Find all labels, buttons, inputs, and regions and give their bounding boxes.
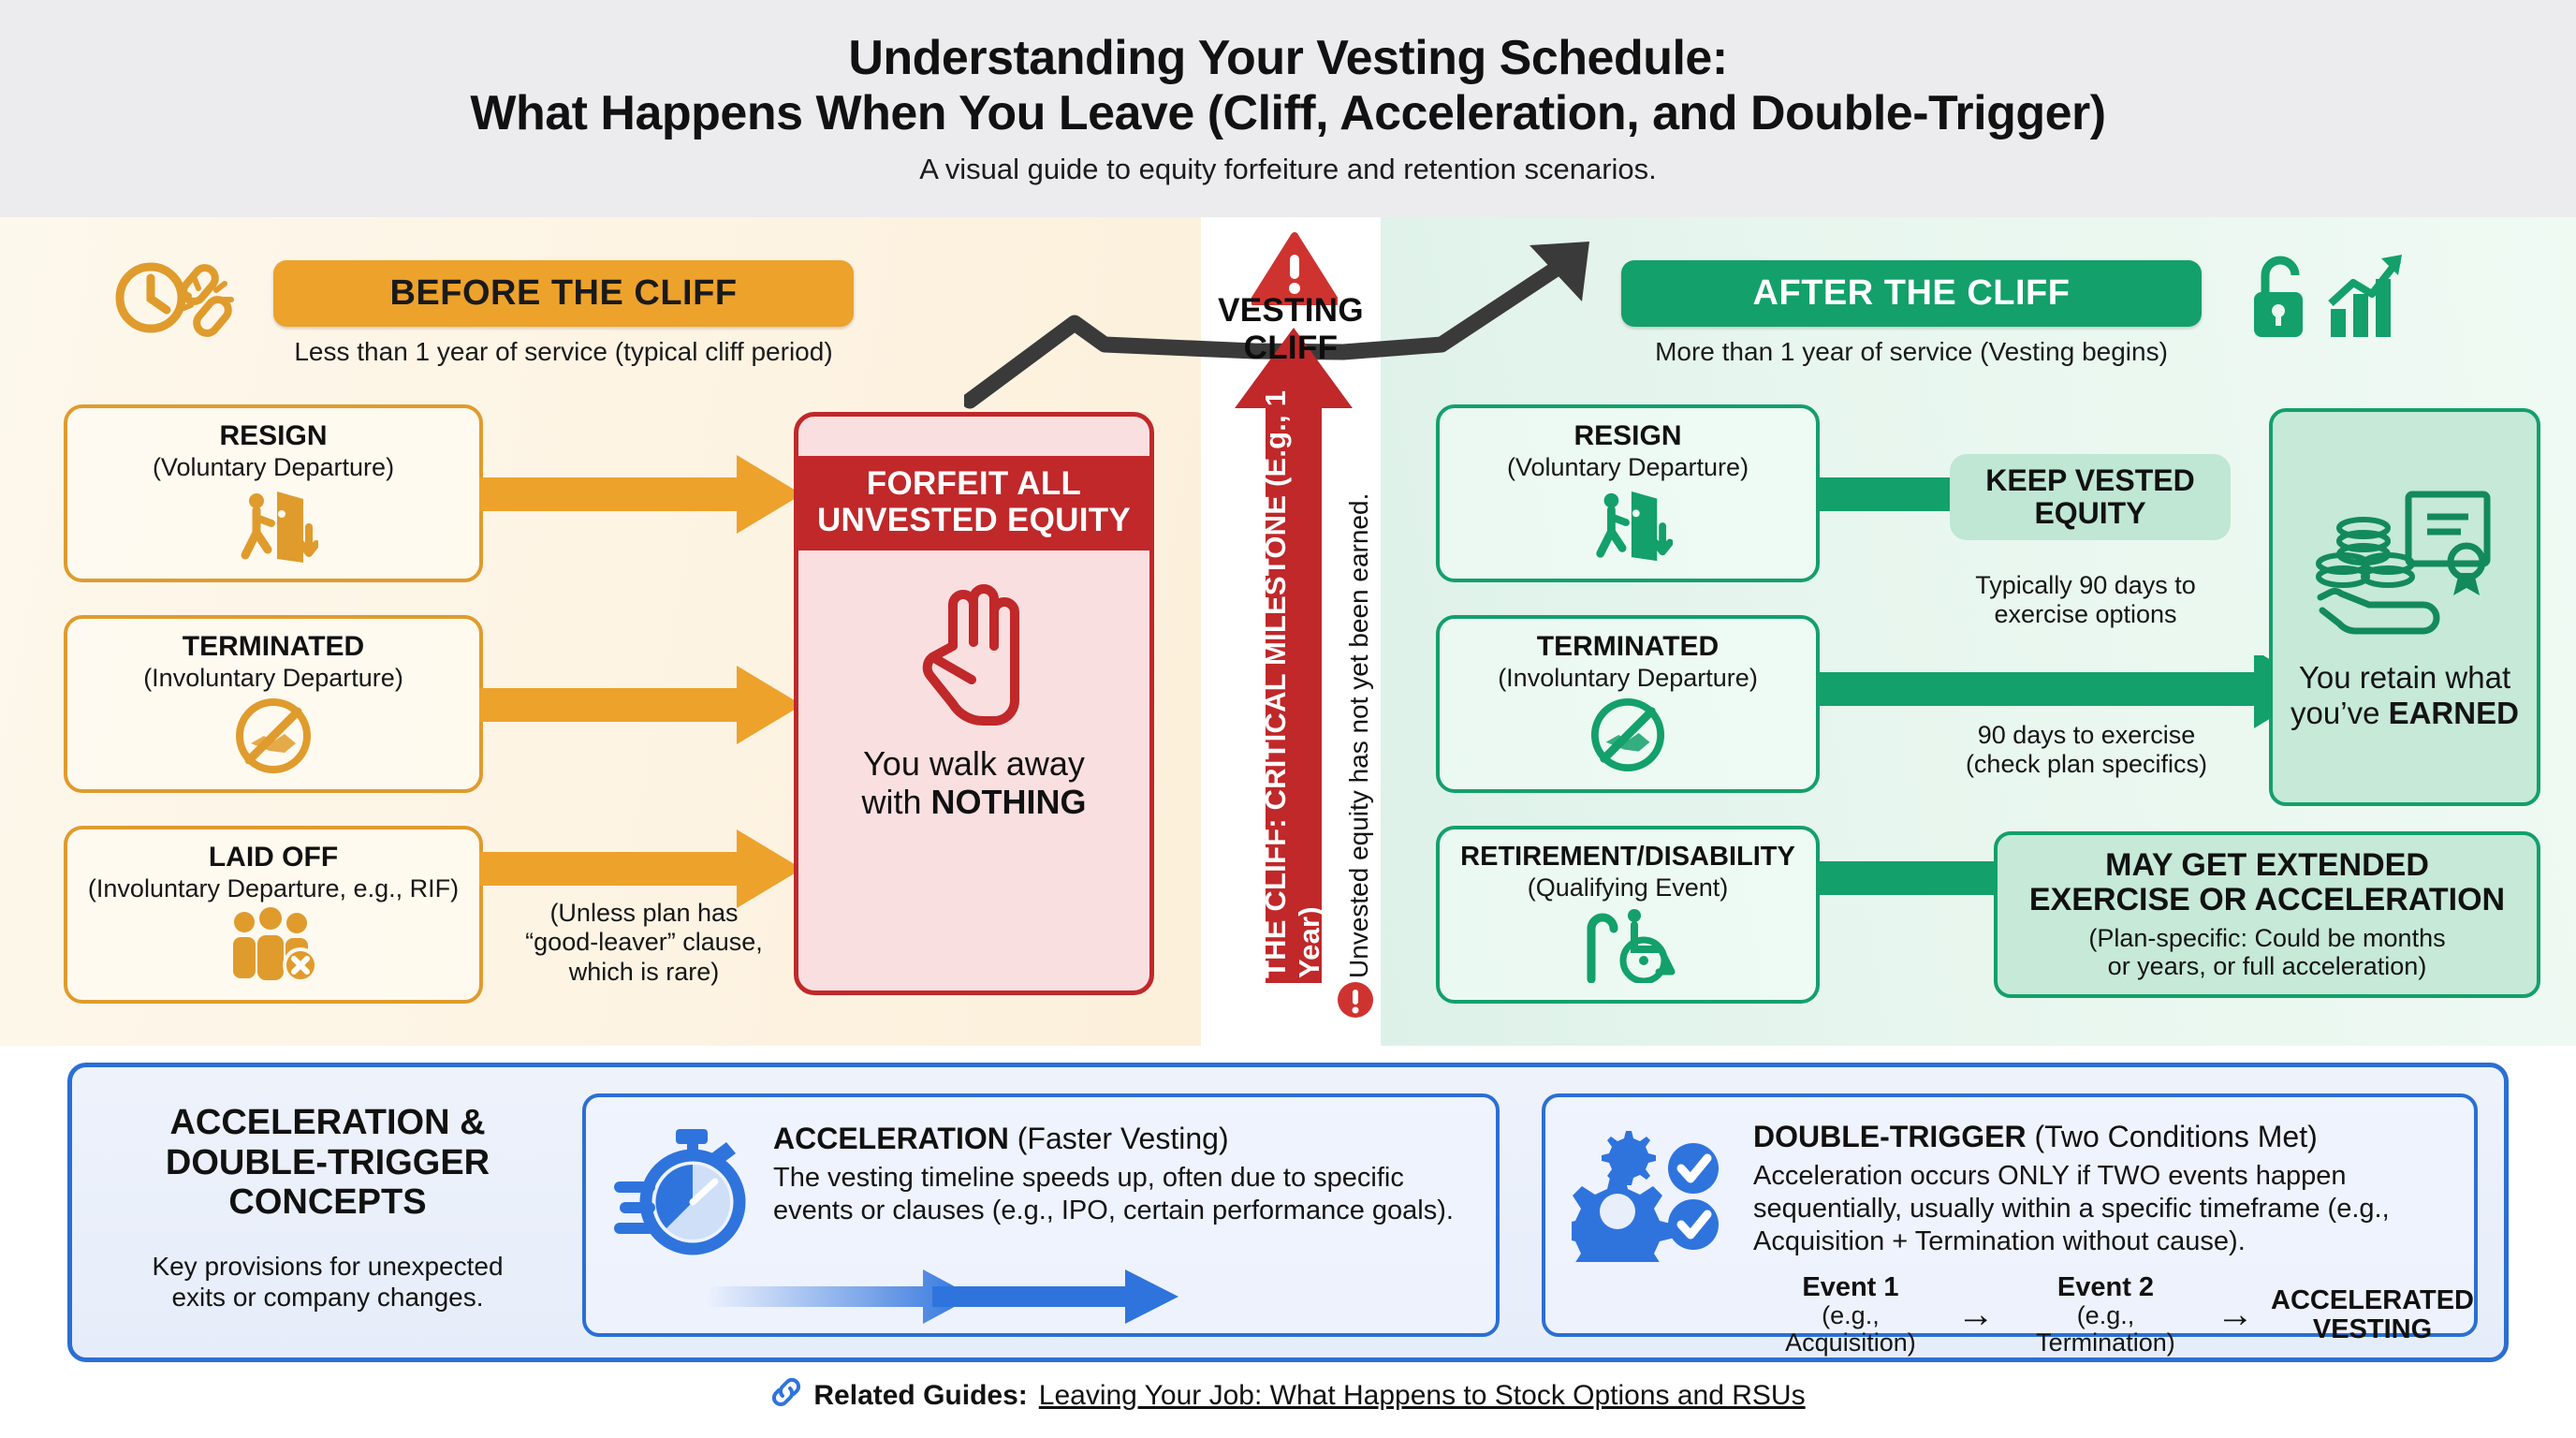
note-line1: 90 days to exercise bbox=[1910, 721, 2263, 750]
concepts-caption-line2: exits or company changes. bbox=[171, 1283, 483, 1312]
person-exit-door-icon bbox=[1583, 486, 1673, 569]
page-title-line2: What Happens When You Leave (Cliff, Acce… bbox=[470, 86, 2105, 141]
card-subtitle: (Involuntary Departure) bbox=[143, 664, 403, 692]
card-title: RESIGN bbox=[219, 421, 327, 451]
concepts-heading-line1: ACCELERATION & bbox=[169, 1103, 485, 1142]
forfeit-outcome-box: FORFEIT ALL UNVESTED EQUITY You walk awa… bbox=[794, 412, 1154, 995]
card-title: TERMINATED bbox=[1537, 632, 1719, 662]
forfeit-message: You walk away with NOTHING bbox=[798, 744, 1149, 821]
card-title: LAID OFF bbox=[209, 843, 338, 873]
note-90-days-to-exercise: 90 days to exercise (check plan specific… bbox=[1910, 721, 2263, 780]
before-cliff-subtitle: Less than 1 year of service (typical cli… bbox=[273, 337, 854, 367]
cane-wheelchair-icon bbox=[1573, 906, 1683, 988]
keep-vested-line1: KEEP VESTED bbox=[1985, 464, 2194, 497]
card-title: TERMINATED bbox=[183, 632, 364, 662]
double-trigger-title: DOUBLE-TRIGGER (Two Conditions Met) bbox=[1753, 1120, 2465, 1154]
growth-chart-icon bbox=[2325, 251, 2408, 345]
arrow-resign-to-forfeit bbox=[479, 449, 805, 539]
no-handshake-icon bbox=[232, 697, 315, 780]
card-subtitle: (Qualifying Event) bbox=[1528, 873, 1729, 902]
stop-hand-icon bbox=[904, 718, 1045, 734]
retain-earned-box: You retain what you’ve EARNED bbox=[2269, 408, 2540, 806]
concepts-heading-block: ACCELERATION & DOUBLE-TRIGGER CONCEPTS K… bbox=[98, 1103, 557, 1313]
card-subtitle: (Involuntary Departure) bbox=[1498, 664, 1758, 692]
acceleration-title-rest: (Faster Vesting) bbox=[1009, 1122, 1229, 1155]
card-resign-after[interactable]: RESIGN (Voluntary Departure) bbox=[1436, 404, 1820, 582]
after-cliff-pill-label: AFTER THE CLIFF bbox=[1621, 260, 2202, 327]
double-trigger-title-bold: DOUBLE-TRIGGER bbox=[1753, 1120, 2027, 1153]
sequence-arrow-1: → bbox=[1957, 1294, 1995, 1336]
concepts-heading-line3: CONCEPTS bbox=[228, 1182, 426, 1222]
card-terminated-after[interactable]: TERMINATED (Involuntary Departure) bbox=[1436, 615, 1820, 793]
after-cliff-pill: AFTER THE CLIFF bbox=[1621, 260, 2202, 327]
note-typically-90-days: Typically 90 days to exercise options bbox=[1926, 571, 2245, 630]
card-resign-before[interactable]: RESIGN (Voluntary Departure) bbox=[64, 404, 483, 582]
sequence-event-2-top: Event 2 bbox=[2012, 1273, 2200, 1302]
sequence-event-1-top: Event 1 bbox=[1761, 1273, 1940, 1302]
retain-line1: You retain what bbox=[2299, 660, 2510, 696]
broken-clock-chain-icon bbox=[110, 255, 251, 345]
sequence-result-bottom: VESTING bbox=[2271, 1315, 2474, 1344]
open-padlock-icon bbox=[2247, 255, 2316, 345]
retain-line2-plain: you’ve bbox=[2291, 696, 2389, 730]
arrow-laid-off-to-forfeit bbox=[479, 824, 805, 914]
extended-title-line1: MAY GET EXTENDED bbox=[2105, 848, 2429, 883]
no-handshake-icon bbox=[1588, 697, 1668, 778]
concepts-caption-line1: Key provisions for unexpected bbox=[152, 1252, 503, 1281]
note-line1: Typically 90 days to bbox=[1926, 571, 2245, 600]
gears-checkmarks-icon bbox=[1572, 1122, 1740, 1267]
sequence-event-2: Event 2 (e.g., Termination) bbox=[2012, 1273, 2200, 1357]
sequence-result: ACCELERATED VESTING bbox=[2271, 1286, 2474, 1345]
note-line2: exercise options bbox=[1926, 600, 2245, 629]
good-leaver-note-line3: which is rare) bbox=[496, 958, 792, 987]
extended-sub-line2: or years, or full acceleration) bbox=[2108, 952, 2427, 981]
card-title: RESIGN bbox=[1573, 421, 1681, 451]
forfeit-banner: FORFEIT ALL UNVESTED EQUITY bbox=[798, 456, 1149, 550]
sequence-event-1: Event 1 (e.g., Acquisition) bbox=[1761, 1273, 1940, 1357]
person-exit-door-icon bbox=[228, 486, 318, 571]
group-people-x-icon bbox=[222, 907, 325, 987]
card-terminated-before[interactable]: TERMINATED (Involuntary Departure) bbox=[64, 615, 483, 793]
page-header: Understanding Your Vesting Schedule: Wha… bbox=[0, 0, 2576, 217]
before-cliff-pill: BEFORE THE CLIFF bbox=[273, 260, 854, 327]
acceleration-title: ACCELERATION (Faster Vesting) bbox=[773, 1122, 1475, 1156]
retain-line2-bold: EARNED bbox=[2389, 696, 2519, 730]
sequence-event-2-bottom: (e.g., Termination) bbox=[2012, 1302, 2200, 1357]
card-laid-off-before[interactable]: LAID OFF (Involuntary Departure, e.g., R… bbox=[64, 826, 483, 1004]
card-subtitle: (Voluntary Departure) bbox=[1507, 453, 1749, 481]
stopwatch-speed-icon bbox=[614, 1125, 753, 1261]
forfeit-message-plain: with bbox=[861, 783, 930, 821]
keep-vested-equity-chip: KEEP VESTED EQUITY bbox=[1950, 454, 2231, 540]
sequence-arrow-2: → bbox=[2217, 1294, 2254, 1336]
extended-sub-line1: (Plan-specific: Could be months bbox=[2088, 924, 2445, 953]
double-trigger-card[interactable]: DOUBLE-TRIGGER (Two Conditions Met) Acce… bbox=[1542, 1093, 2478, 1337]
acceleration-card[interactable]: ACCELERATION (Faster Vesting) The vestin… bbox=[582, 1093, 1500, 1337]
note-line2: (check plan specifics) bbox=[1910, 750, 2263, 779]
page-subtitle: A visual guide to equity forfeiture and … bbox=[919, 153, 1657, 186]
forfeit-message-bold: NOTHING bbox=[931, 783, 1087, 821]
double-trigger-title-rest: (Two Conditions Met) bbox=[2027, 1120, 2318, 1153]
acceleration-body: The vesting timeline speeds up, often du… bbox=[773, 1162, 1475, 1227]
forfeit-banner-line1: FORFEIT ALL bbox=[798, 466, 1149, 503]
exclamation-circle-icon bbox=[1337, 981, 1374, 1023]
concepts-panel: ACCELERATION & DOUBLE-TRIGGER CONCEPTS K… bbox=[67, 1063, 2509, 1362]
arrow-terminated-to-forfeit bbox=[479, 660, 805, 750]
acceleration-title-bold: ACCELERATION bbox=[773, 1122, 1009, 1155]
extended-exercise-box: MAY GET EXTENDED EXERCISE OR ACCELERATIO… bbox=[1994, 831, 2540, 998]
card-title: RETIREMENT/DISABILITY bbox=[1460, 843, 1795, 872]
card-subtitle: (Involuntary Departure, e.g., RIF) bbox=[88, 874, 459, 902]
footer-link[interactable]: Leaving Your Job: What Happens to Stock … bbox=[1039, 1380, 1806, 1412]
footer-related-guides: Related Guides: Leaving Your Job: What H… bbox=[0, 1376, 2576, 1416]
cliff-side-note: Unvested equity has not yet been earned. bbox=[1344, 473, 1374, 978]
keep-vested-line2: EQUITY bbox=[2034, 497, 2145, 530]
footer-label: Related Guides: bbox=[813, 1380, 1027, 1412]
before-cliff-pill-label: BEFORE THE CLIFF bbox=[273, 260, 854, 327]
sequence-result-top: ACCELERATED bbox=[2271, 1286, 2474, 1315]
after-cliff-subtitle: More than 1 year of service (Vesting beg… bbox=[1621, 337, 2202, 367]
speed-arrows-icon bbox=[706, 1266, 1193, 1328]
extended-title-line2: EXERCISE OR ACCELERATION bbox=[2029, 883, 2505, 917]
sequence-event-1-bottom: (e.g., Acquisition) bbox=[1761, 1302, 1940, 1357]
hand-coins-certificate-icon bbox=[2311, 483, 2498, 647]
good-leaver-note-line2: “good-leaver” clause, bbox=[496, 928, 792, 957]
double-trigger-sequence: Event 1 (e.g., Acquisition) → Event 2 (e… bbox=[1761, 1273, 2474, 1357]
concepts-heading-line2: DOUBLE-TRIGGER bbox=[166, 1143, 490, 1182]
double-trigger-body: Acceleration occurs ONLY if TWO events h… bbox=[1753, 1160, 2465, 1257]
card-subtitle: (Voluntary Departure) bbox=[153, 453, 394, 481]
link-chain-icon bbox=[770, 1376, 802, 1416]
forfeit-message-line1: You walk away bbox=[798, 744, 1149, 783]
forfeit-banner-line2: UNVESTED EQUITY bbox=[798, 503, 1149, 539]
page-title-line1: Understanding Your Vesting Schedule: bbox=[848, 31, 1727, 86]
cliff-milestone-text: THE CLIFF: CRITICAL MILESTONE (E.g., 1 Y… bbox=[1259, 323, 1326, 978]
card-retirement-disability-after[interactable]: RETIREMENT/DISABILITY (Qualifying Event) bbox=[1436, 826, 1820, 1004]
